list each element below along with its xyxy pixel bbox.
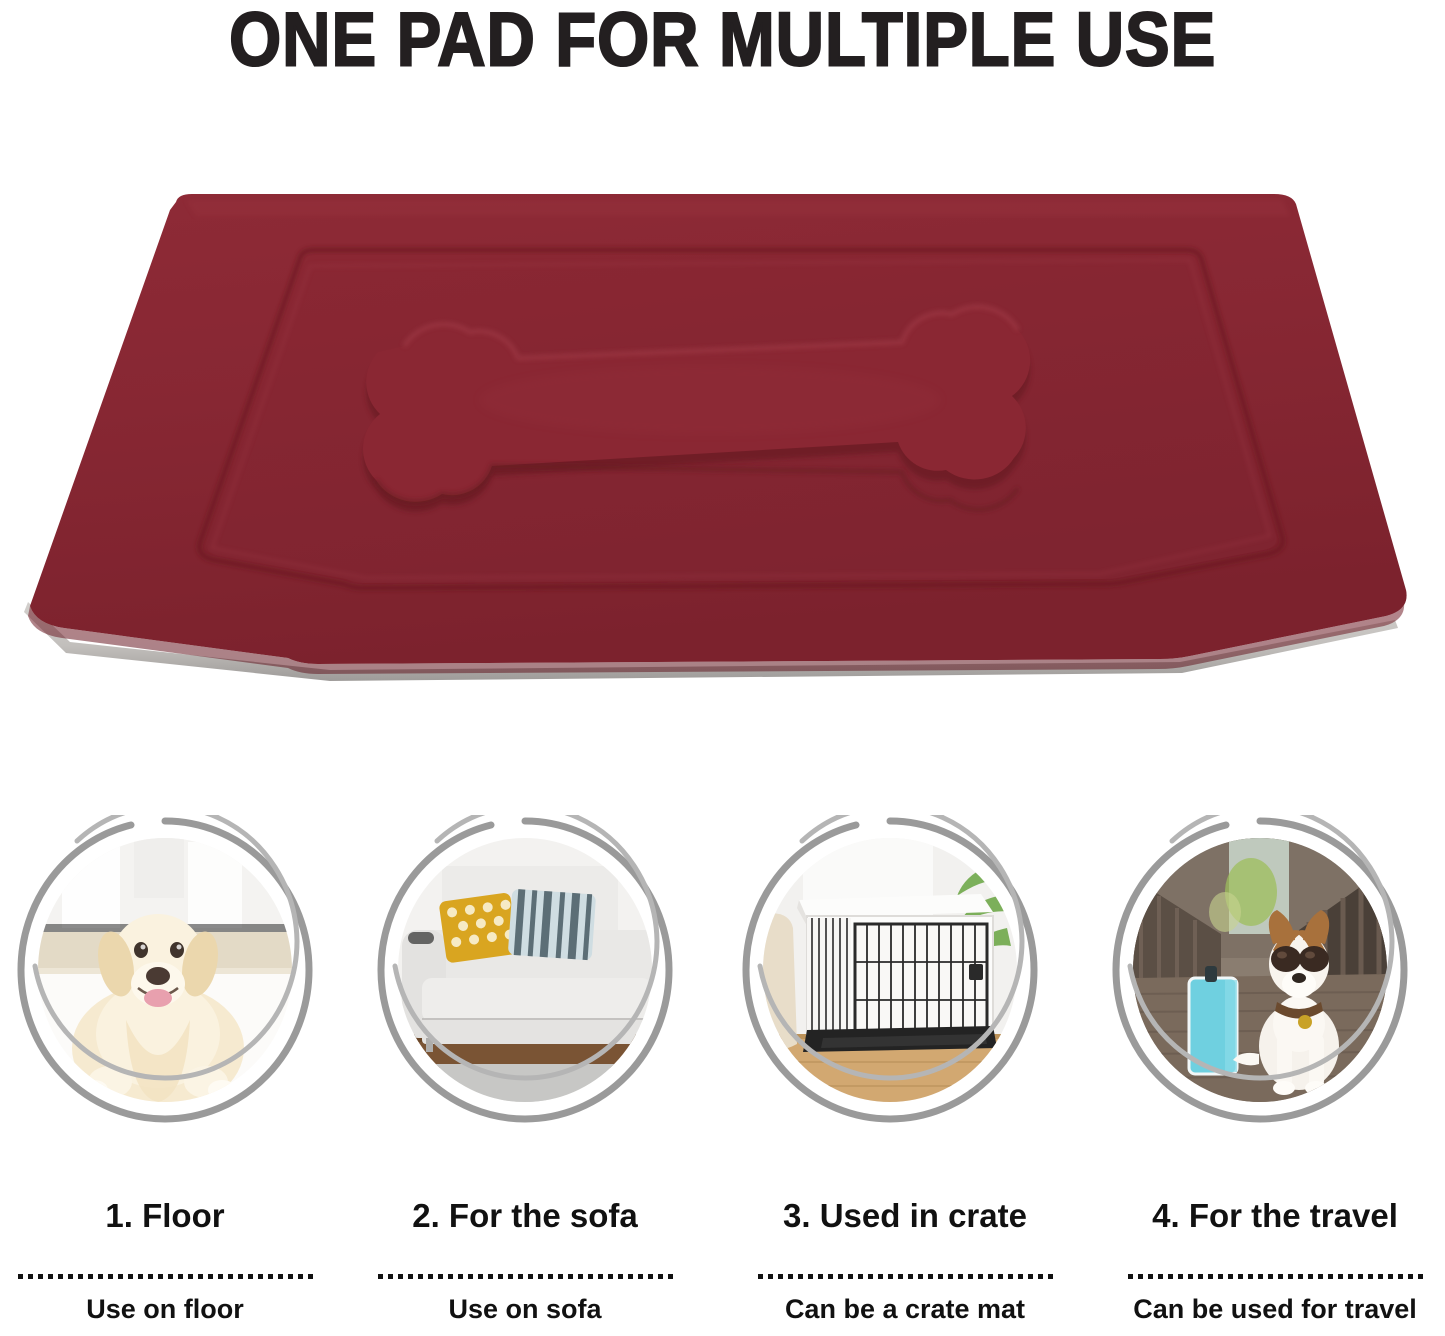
use-case-thumb-4[interactable] [1105, 810, 1415, 1130]
use-case-heading-4: 4. For the travel [1100, 1196, 1445, 1236]
decorative-ring-4 [1110, 815, 1410, 1125]
use-case-heading-2: 2. For the sofa [350, 1196, 700, 1236]
use-case-thumb-3[interactable] [735, 810, 1045, 1130]
page-header: ONE PAD FOR MULTIPLE USE [0, 0, 1445, 80]
use-case-caption-1: 1. Floor Use on floor [0, 1190, 340, 1336]
use-case-subtext-4: Can be used for travel [1100, 1292, 1445, 1326]
caption-divider-4 [1128, 1274, 1424, 1279]
use-case-caption-3: 3. Used in crate Can be a crate mat [730, 1190, 1080, 1336]
use-case-thumb-1[interactable] [10, 810, 320, 1130]
caption-divider-2 [378, 1274, 674, 1279]
use-case-image-row [0, 810, 1445, 1130]
use-case-subtext-3: Can be a crate mat [730, 1292, 1080, 1326]
use-case-heading-3: 3. Used in crate [730, 1196, 1080, 1236]
decorative-ring-3 [740, 815, 1040, 1125]
use-case-caption-row: 1. Floor Use on floor 2. For the sofa Us… [0, 1190, 1445, 1336]
caption-divider-3 [758, 1274, 1054, 1279]
decorative-ring-2 [375, 815, 675, 1125]
use-case-caption-2: 2. For the sofa Use on sofa [350, 1190, 700, 1336]
page-title: ONE PAD FOR MULTIPLE USE [229, 2, 1216, 78]
caption-divider-1 [18, 1274, 314, 1279]
hero-product-image [0, 150, 1445, 730]
decorative-ring-1 [15, 815, 315, 1125]
use-case-heading-1: 1. Floor [0, 1196, 340, 1236]
use-case-subtext-1: Use on floor [0, 1292, 340, 1326]
use-case-thumb-2[interactable] [370, 810, 680, 1130]
use-case-caption-4: 4. For the travel Can be used for travel [1100, 1190, 1445, 1336]
use-case-subtext-2: Use on sofa [350, 1292, 700, 1326]
